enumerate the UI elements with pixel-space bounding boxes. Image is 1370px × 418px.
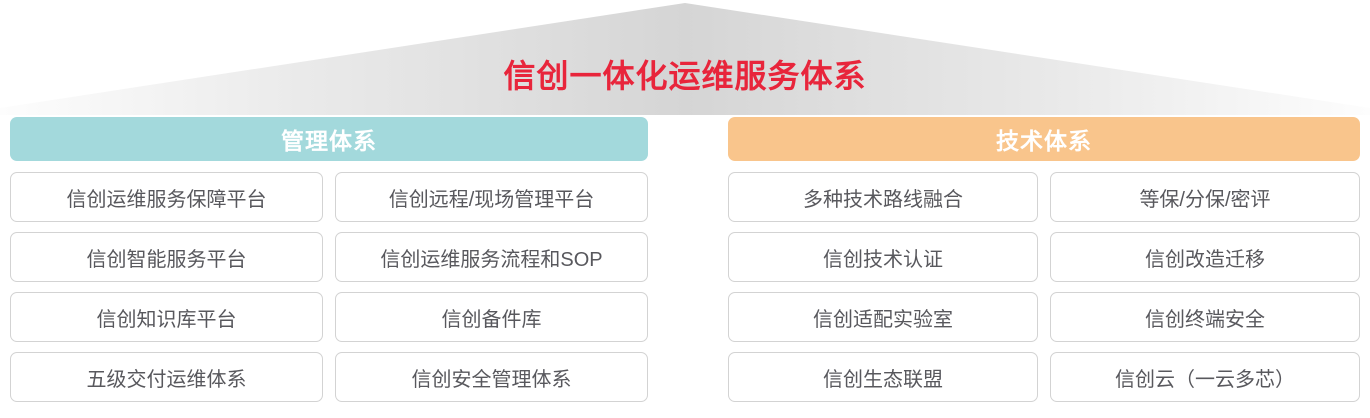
group-grid-technology: 多种技术路线融合 等保/分保/密评 信创技术认证 信创改造迁移 信创适配实验室 … [728, 172, 1360, 402]
diagram-root: 信创一体化运维服务体系 管理体系 信创运维服务保障平台 信创远程/现场管理平台 … [0, 0, 1370, 418]
list-item[interactable]: 信创改造迁移 [1050, 232, 1360, 282]
list-item[interactable]: 信创智能服务平台 [10, 232, 323, 282]
group-grid-management: 信创运维服务保障平台 信创远程/现场管理平台 信创智能服务平台 信创运维服务流程… [10, 172, 648, 402]
list-item[interactable]: 信创云（一云多芯） [1050, 352, 1360, 402]
list-item[interactable]: 信创备件库 [335, 292, 648, 342]
list-item[interactable]: 五级交付运维体系 [10, 352, 323, 402]
list-item[interactable]: 信创适配实验室 [728, 292, 1038, 342]
group-technology: 技术体系 多种技术路线融合 等保/分保/密评 信创技术认证 信创改造迁移 信创适… [728, 117, 1360, 402]
list-item[interactable]: 信创安全管理体系 [335, 352, 648, 402]
list-item[interactable]: 信创终端安全 [1050, 292, 1360, 342]
list-item[interactable]: 信创生态联盟 [728, 352, 1038, 402]
group-header-management: 管理体系 [10, 117, 648, 161]
list-item[interactable]: 信创知识库平台 [10, 292, 323, 342]
group-header-technology: 技术体系 [728, 117, 1360, 161]
list-item[interactable]: 等保/分保/密评 [1050, 172, 1360, 222]
page-title: 信创一体化运维服务体系 [0, 55, 1370, 97]
list-item[interactable]: 信创技术认证 [728, 232, 1038, 282]
list-item[interactable]: 信创运维服务保障平台 [10, 172, 323, 222]
list-item[interactable]: 多种技术路线融合 [728, 172, 1038, 222]
group-management: 管理体系 信创运维服务保障平台 信创远程/现场管理平台 信创智能服务平台 信创运… [10, 117, 648, 402]
list-item[interactable]: 信创运维服务流程和SOP [335, 232, 648, 282]
list-item[interactable]: 信创远程/现场管理平台 [335, 172, 648, 222]
